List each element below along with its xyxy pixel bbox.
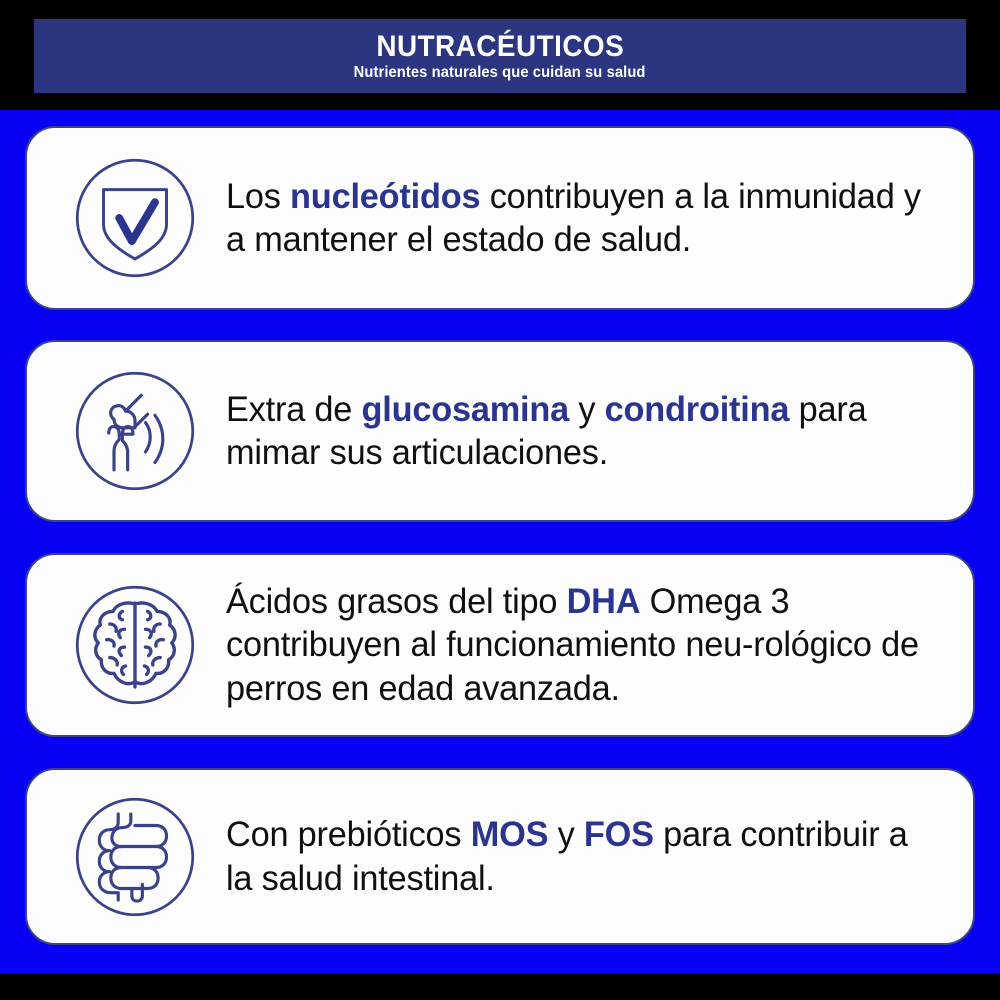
highlight-term: DHA	[567, 582, 641, 621]
benefit-card-glucosamina: Extra de glucosamina y condroitina para …	[25, 340, 975, 522]
benefit-card-dha: Ácidos grasos del tipo DHA Omega 3 contr…	[25, 553, 975, 737]
page-subtitle: Nutrientes naturales que cuidan su salud	[354, 64, 646, 81]
brain-icon	[72, 582, 198, 708]
benefit-card-nucleotidos: Los nucleótidos contribuyen a la inmunid…	[25, 126, 975, 310]
benefit-card-text: Ácidos grasos del tipo DHA Omega 3 contr…	[226, 580, 958, 710]
benefit-card-text: Los nucleótidos contribuyen a la inmunid…	[226, 175, 958, 262]
highlight-term: FOS	[584, 815, 654, 854]
highlight-term: nucleótidos	[290, 177, 480, 216]
highlight-term: glucosamina	[362, 390, 570, 429]
highlight-term: MOS	[471, 815, 549, 854]
infographic-canvas: NUTRACÉUTICOS Nutrientes naturales que c…	[0, 0, 1000, 1000]
shield-check-icon	[72, 155, 198, 281]
page-title: NUTRACÉUTICOS	[376, 31, 624, 63]
intestine-icon	[72, 794, 198, 920]
benefit-card-text: Con prebióticos MOS y FOS para contribui…	[226, 813, 958, 900]
benefit-card-prebioticos: Con prebióticos MOS y FOS para contribui…	[25, 768, 975, 945]
header-band: NUTRACÉUTICOS Nutrientes naturales que c…	[34, 19, 966, 93]
highlight-term: condroitina	[605, 390, 790, 429]
benefit-card-text: Extra de glucosamina y condroitina para …	[226, 388, 958, 475]
joint-bone-icon	[72, 368, 198, 494]
